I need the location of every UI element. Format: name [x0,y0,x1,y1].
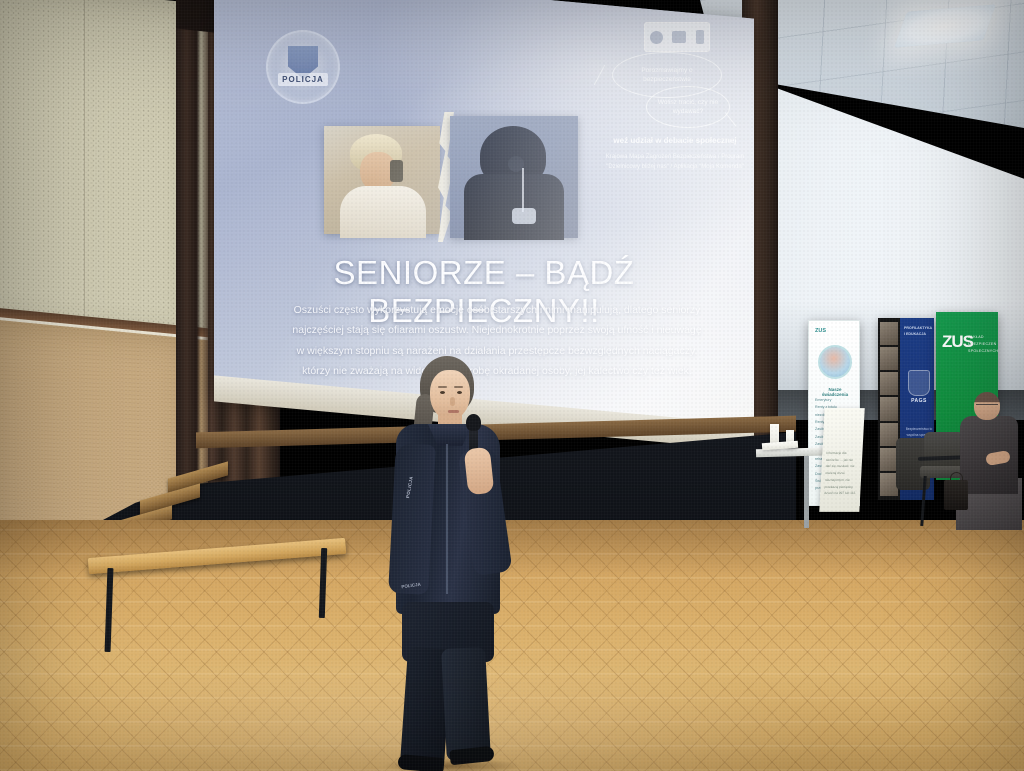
phone-icon [696,30,704,44]
officer-eye [440,391,445,394]
banner-blue-top-text: PROFILAKTYKA I EDUKACJA [904,326,932,338]
table-leg [804,456,809,528]
photo-elderly-woman [324,126,440,234]
film-cell [880,372,898,395]
telephone-handset-icon [390,160,403,182]
board-text: Informacje dla seniorów — jak nie dać si… [824,450,859,497]
slide-icon-row [644,22,710,52]
film-cell [880,347,898,370]
officer-jacket-zipper [446,444,448,594]
handbag [944,480,968,510]
photo-hooded-scammer [450,116,578,238]
officer-left-shoe [397,754,444,771]
glasses-icon [976,404,998,408]
banner-white-heading: Nasze świadczenia [816,387,854,397]
elderly-body [340,186,426,238]
officer-left-sleeve [388,443,436,595]
banner-blue-name: PAGS [904,398,934,404]
officer-sleeve-patch: POLICJA [394,474,423,500]
phone-cord [522,168,524,212]
officer-right-leg [441,647,491,761]
film-cell [880,322,898,345]
slide-subheading: weź udział w debacie społecznej [612,136,738,145]
speech-bubble-two: Wolisz tracić, czy nie wydawać? [646,86,730,128]
shield-icon [650,31,663,44]
left-wall-panel-seam [84,0,85,334]
photo-scene: POLICJA [0,0,1024,771]
officer-nose [450,397,455,406]
banner-white-photo [818,345,852,379]
police-crest-icon: POLICJA [266,30,340,104]
film-cell [880,397,898,420]
banner-white-item: Emerytury [815,397,857,404]
information-board: Informacje dla seniorów — jak nie dać si… [819,408,864,512]
chair-backrest [924,432,964,468]
officer-hand [464,447,495,495]
scammer-torso [464,174,564,240]
officer-back-patch: POLICJA [397,574,425,595]
crest-label: POLICJA [278,73,328,86]
phone-receiver-icon [512,208,536,224]
officer-mouth [448,410,459,413]
officer-eyebrow [438,386,447,388]
officer-eye [457,391,462,394]
document-icon [672,31,686,43]
microphone-icon [466,414,481,431]
slide-credits: Krajowa Mapa Zagrożeń Bezpieczeństwa / P… [604,152,746,172]
police-officer-speaker: POLICJA POLICJA [374,352,524,771]
officer-eyebrow [454,386,463,388]
zus-subtitle: ZAKŁAD UBEZPIECZEŃ SPOŁECZNYCH [968,334,996,354]
banner-blue-logo-icon [908,370,930,396]
banner-white-logo: ZUS [815,328,826,334]
